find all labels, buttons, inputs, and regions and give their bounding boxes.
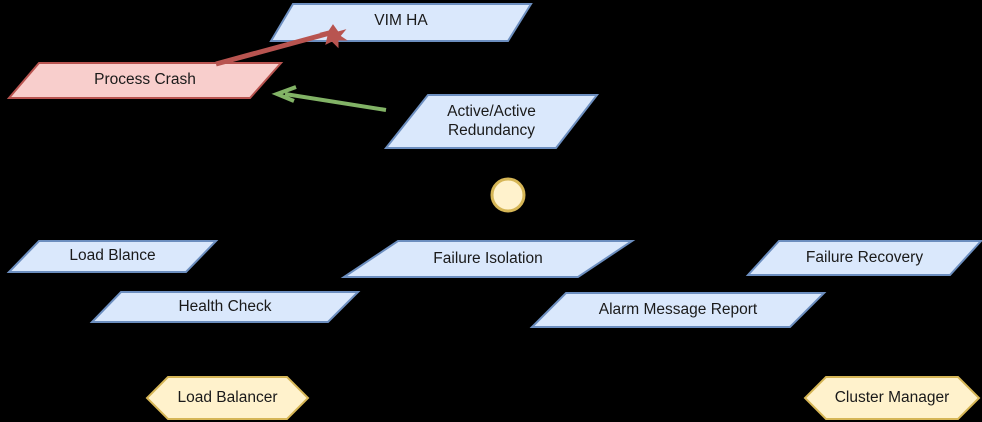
node-shape-failure-recovery[interactable]	[748, 241, 981, 275]
node-shape-alarm-message-report[interactable]	[532, 293, 824, 327]
node-shape-vim-ha[interactable]	[271, 4, 531, 41]
node-shape-health-check[interactable]	[92, 292, 358, 322]
diagram-canvas: VIM HA Process Crash Active/Active Redun…	[0, 0, 982, 422]
node-shape-active-active-redundancy[interactable]	[386, 95, 597, 148]
edge-active-active-to-process-crash[interactable]	[277, 87, 386, 110]
node-shape-hub-circle[interactable]	[492, 179, 524, 211]
node-shape-load-balancer[interactable]	[147, 377, 308, 419]
node-shape-cluster-manager[interactable]	[805, 377, 979, 419]
node-shape-failure-isolation[interactable]	[344, 241, 632, 277]
diagram-shape-layer	[0, 0, 982, 422]
node-shape-load-blance[interactable]	[9, 241, 216, 272]
node-shape-process-crash[interactable]	[9, 63, 281, 98]
